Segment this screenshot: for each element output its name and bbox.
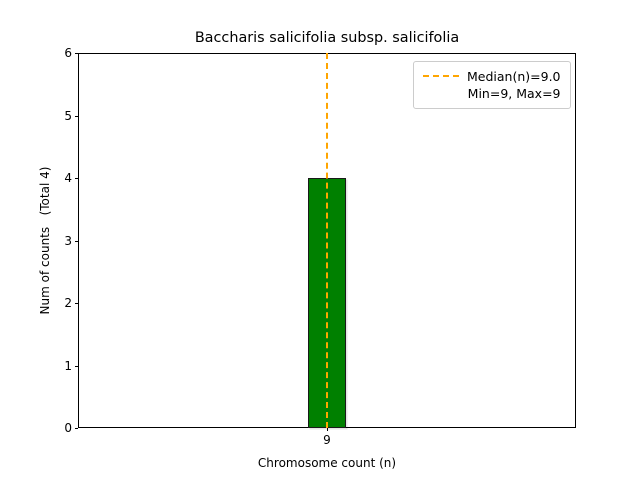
- x-axis-label: Chromosome count (n): [78, 456, 576, 470]
- chart-figure: Baccharis salicifolia subsp. salicifolia…: [0, 0, 640, 480]
- y-tick-label-2: 2: [28, 297, 72, 309]
- y-tick-label-1: 1: [28, 360, 72, 372]
- y-tick-label-6: 6: [28, 47, 72, 59]
- legend-median-line1: Median(n)=9.0: [467, 68, 561, 85]
- y-tick-mark-0: [75, 428, 79, 429]
- x-tick-mark-9: [327, 428, 328, 432]
- legend-entry-median: Median(n)=9.0 Min=9, Max=9: [467, 68, 561, 102]
- y-tick-label-3: 3: [28, 235, 72, 247]
- median-line: [326, 53, 328, 428]
- page-title: Baccharis salicifolia subsp. salicifolia: [78, 30, 576, 47]
- legend[interactable]: Median(n)=9.0 Min=9, Max=9: [413, 61, 571, 109]
- y-tick-label-4: 4: [28, 172, 72, 184]
- x-tick-label-9: 9: [297, 434, 357, 446]
- y-tick-label-5: 5: [28, 110, 72, 122]
- legend-median-line2: Min=9, Max=9: [468, 85, 561, 102]
- y-tick-label-0: 0: [28, 422, 72, 434]
- legend-median-dash-icon: [423, 68, 459, 85]
